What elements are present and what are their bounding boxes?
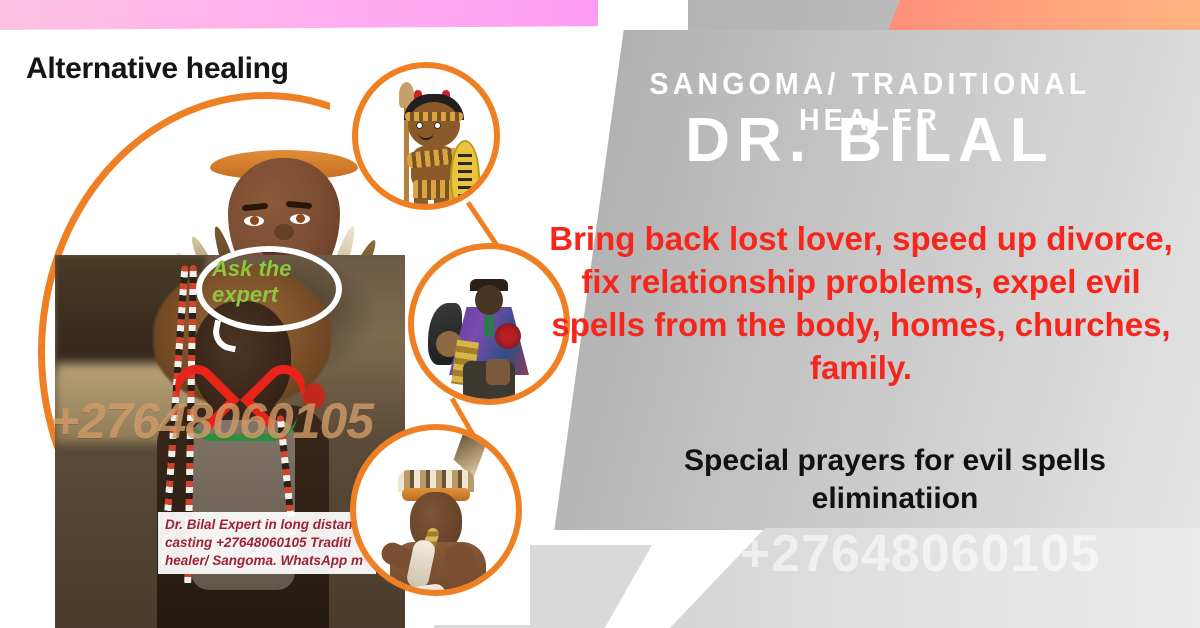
caption-line-1: Dr. Bilal Expert in long distan	[165, 516, 370, 534]
speech-bubble-text: Ask the expert	[212, 256, 332, 308]
top-bar-pink	[0, 0, 598, 30]
shield-pattern	[458, 154, 472, 202]
caption-line-3: healer/ Sangoma. WhatsApp m	[165, 552, 370, 570]
warrior-leg	[414, 198, 428, 210]
page-title: Alternative healing	[26, 52, 289, 86]
warrior-eye	[416, 122, 423, 129]
warrior-headband	[405, 112, 463, 121]
healer-green-tie	[484, 315, 494, 337]
figure-pupil	[296, 214, 305, 223]
circle-photo-crouching-warrior	[350, 424, 522, 596]
top-bar-orange	[888, 0, 1200, 31]
healer-head	[475, 285, 503, 315]
figure-pupil	[250, 216, 259, 225]
healer-bag	[486, 359, 510, 385]
warrior-skirt	[413, 180, 455, 200]
services-text: Bring back lost lover, speed up divorce,…	[536, 218, 1186, 390]
healer-name: DR. BILAL	[560, 108, 1180, 173]
caption-line-2: casting +27648060105 Traditi	[165, 534, 370, 552]
figure-nose	[274, 224, 294, 240]
poster-canvas: Alternative healing	[0, 0, 1200, 628]
photo-caption-box: Dr. Bilal Expert in long distan casting …	[158, 512, 376, 574]
circle-photo-zulu-warrior	[352, 62, 500, 210]
prayers-text: Special prayers for evil spells eliminat…	[600, 442, 1190, 519]
phone-number-ghost: +27648060105	[640, 524, 1200, 584]
photo-watermark-phone: +27648060105	[50, 392, 373, 450]
healer-red-disk	[495, 323, 521, 349]
warrior-eye	[434, 122, 441, 129]
